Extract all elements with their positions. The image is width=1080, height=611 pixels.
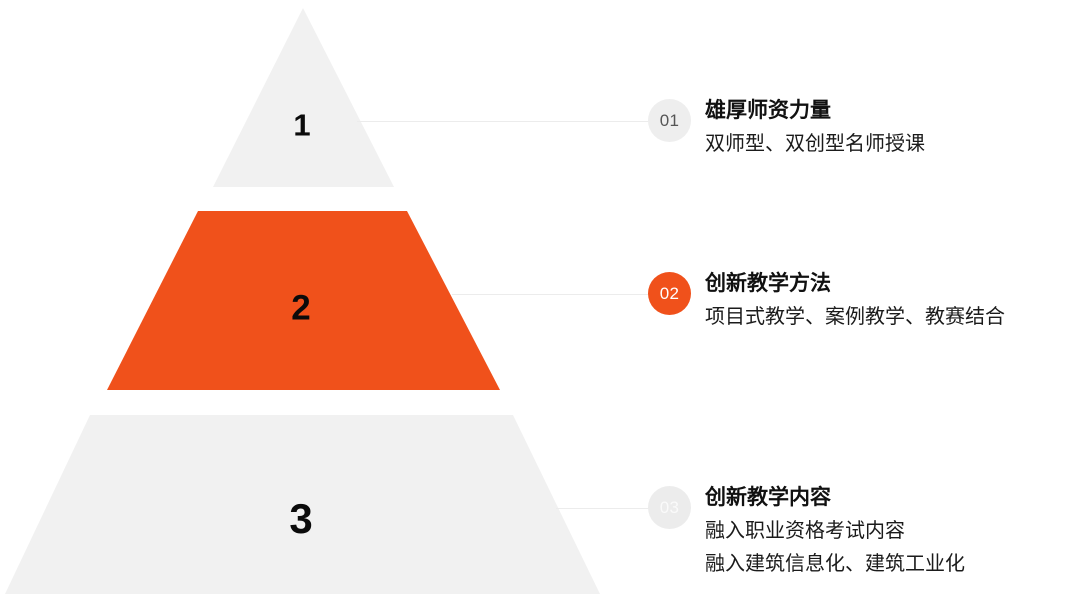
pyramid-tier-2-number: 2 <box>291 291 310 326</box>
callout-desc-line: 融入职业资格考试内容 <box>705 516 965 546</box>
badge-02: 02 <box>648 272 691 315</box>
callout-desc-line: 项目式教学、案例教学、教赛结合 <box>705 302 1005 332</box>
connector-line-2 <box>452 294 650 295</box>
pyramid-tier-3-number: 3 <box>289 498 312 540</box>
callout-desc-01: 双师型、双创型名师授课 <box>705 129 925 159</box>
pyramid-tier-1-triangle[interactable] <box>213 8 394 187</box>
callout-title-03: 创新教学内容 <box>705 485 965 511</box>
badge-01: 01 <box>648 99 691 142</box>
callout-desc-02: 项目式教学、案例教学、教赛结合 <box>705 302 1005 332</box>
callout-text-02: 创新教学方法 项目式教学、案例教学、教赛结合 <box>705 271 1005 332</box>
callout-item-01[interactable]: 01 雄厚师资力量 双师型、双创型名师授课 <box>648 98 925 159</box>
callout-item-02[interactable]: 02 创新教学方法 项目式教学、案例教学、教赛结合 <box>648 271 1005 332</box>
pyramid-shapes <box>0 0 640 611</box>
connector-line-3 <box>556 508 649 509</box>
callout-desc-03: 融入职业资格考试内容 融入建筑信息化、建筑工业化 <box>705 516 965 579</box>
callout-desc-line: 双师型、双创型名师授课 <box>705 129 925 159</box>
badge-03: 03 <box>648 486 691 529</box>
callout-title-02: 创新教学方法 <box>705 271 1005 297</box>
callout-desc-line: 融入建筑信息化、建筑工业化 <box>705 549 965 579</box>
pyramid-diagram: 1 2 3 <box>0 0 640 611</box>
callout-title-01: 雄厚师资力量 <box>705 98 925 124</box>
callout-item-03[interactable]: 03 创新教学内容 融入职业资格考试内容 融入建筑信息化、建筑工业化 <box>648 485 965 579</box>
callout-text-03: 创新教学内容 融入职业资格考试内容 融入建筑信息化、建筑工业化 <box>705 485 965 579</box>
pyramid-tier-1-number: 1 <box>293 110 310 141</box>
connector-line-1 <box>357 121 649 122</box>
callout-text-01: 雄厚师资力量 双师型、双创型名师授课 <box>705 98 925 159</box>
